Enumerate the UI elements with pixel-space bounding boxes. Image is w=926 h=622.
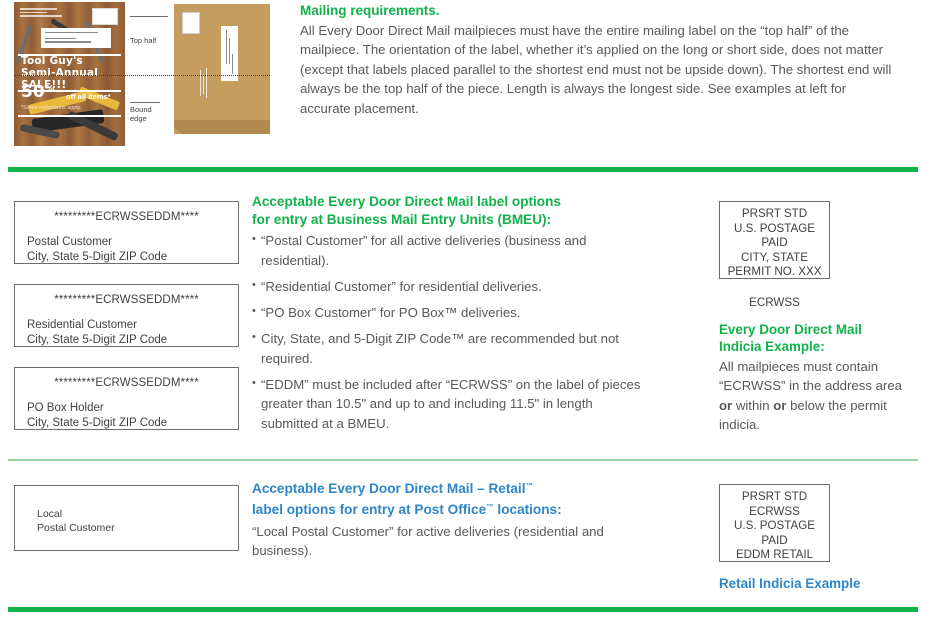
- bmeu-heading: Acceptable Every Door Direct Mail label …: [252, 193, 652, 228]
- flyer-discount: 50%: [21, 84, 55, 101]
- flyer-return-address: [20, 8, 64, 21]
- label-city-line: City, State 5-Digit ZIP Code: [27, 417, 167, 429]
- bound-edge-line1: Bound: [130, 105, 152, 114]
- trademark-icon: ™: [486, 502, 494, 511]
- label-line2: Postal Customer: [37, 522, 115, 534]
- caption-bold-or-2: or: [773, 398, 786, 413]
- caption-body-part2: within: [732, 398, 773, 413]
- eddm-indicia-caption-heading: Every Door Direct Mail Indicia Example:: [719, 321, 915, 356]
- flyer-headline-1: Tool Guy's: [21, 55, 83, 67]
- bmeu-heading-line2: for entry at Business Mail Entry Units (…: [252, 212, 551, 227]
- indicia-line-5: PERMIT NO. XXX: [720, 265, 829, 280]
- mailing-requirements-block: Mailing requirements. All Every Door Dir…: [300, 2, 900, 118]
- top-half-leader-line: [130, 16, 168, 17]
- label-endorsement: *********ECRWSSEDDM****: [15, 294, 238, 306]
- label-address: Local Postal Customer: [37, 508, 115, 535]
- indicia-line-4: CITY, STATE: [720, 251, 829, 266]
- label-sample-po-box-holder: *********ECRWSSEDDM**** PO Box Holder Ci…: [14, 367, 239, 430]
- indicia-line-5: EDDM RETAIL: [720, 548, 829, 563]
- label-endorsement: *********ECRWSSEDDM****: [15, 211, 238, 223]
- label-address: Postal Customer City, State 5-Digit ZIP …: [27, 235, 167, 264]
- bound-edge-leader-line: [130, 102, 160, 103]
- label-address: PO Box Holder City, State 5-Digit ZIP Co…: [27, 401, 167, 430]
- divider-rule-bottom: [8, 607, 918, 612]
- trademark-icon: ™: [526, 481, 534, 490]
- mailing-requirements-heading: Mailing requirements.: [300, 2, 900, 19]
- bmeu-heading-line1: Acceptable Every Door Direct Mail label …: [252, 194, 561, 209]
- mailpiece-artwork: Tool Guy's Semi-Annual SALE!!! 50% off a…: [14, 2, 270, 148]
- label-sample-residential-customer: *********ECRWSSEDDM**** Residential Cust…: [14, 284, 239, 347]
- top-half-label: Top half: [130, 36, 156, 45]
- bound-edge-label: Bound edge: [130, 105, 152, 123]
- indicia-line-2: ECRWSS: [720, 505, 829, 520]
- caption-heading-line1: Every Door Direct Mail: [719, 322, 862, 337]
- caption-bold-or-1: or: [719, 398, 732, 413]
- envelope-return-address: [200, 68, 212, 102]
- list-item: “Residential Customer” for residential d…: [252, 277, 652, 297]
- retail-heading-line1: Acceptable Every Door Direct Mail – Reta…: [252, 481, 526, 496]
- retail-body: “Local Postal Customer” for active deliv…: [252, 522, 652, 561]
- caption-body-part1: All mailpieces must contain “ECRWSS” in …: [719, 359, 902, 393]
- envelope-flap: [174, 120, 270, 134]
- mailing-requirements-body: All Every Door Direct Mail mailpieces mu…: [300, 21, 900, 118]
- caption-heading-line2: Indicia Example:: [719, 339, 825, 354]
- label-endorsement: *********ECRWSSEDDM****: [15, 377, 238, 389]
- label-city-line: City, State 5-Digit ZIP Code: [27, 334, 167, 346]
- bound-edge-line2: edge: [130, 114, 147, 123]
- flyer-address-label: [41, 28, 111, 48]
- divider-rule-middle: [8, 459, 918, 461]
- retail-heading-line2-post: locations:: [494, 502, 562, 517]
- label-name: PO Box Holder: [27, 402, 104, 414]
- eddm-indicia-caption-block: Every Door Direct Mail Indicia Example: …: [719, 321, 915, 434]
- list-item: “PO Box Customer” for PO Box™ deliveries…: [252, 303, 652, 323]
- indicia-line-4: PAID: [720, 534, 829, 549]
- list-item: City, State, and 5-Digit ZIP Code™ are r…: [252, 329, 652, 368]
- envelope-indicia-box: [182, 12, 200, 34]
- retail-indicia-caption: Retail Indicia Example: [719, 575, 926, 592]
- bmeu-copy-block: Acceptable Every Door Direct Mail label …: [252, 193, 652, 440]
- bmeu-bullet-list: “Postal Customer” for all active deliver…: [252, 231, 652, 433]
- retail-heading-line2-pre: label options for entry at Post Office: [252, 502, 486, 517]
- flyer-fine-print: *Some restrictions apply.: [21, 105, 81, 111]
- divider-rule-top: [8, 167, 918, 172]
- list-item: “Postal Customer” for all active deliver…: [252, 231, 652, 270]
- flyer-sample: Tool Guy's Semi-Annual SALE!!! 50% off a…: [14, 2, 125, 146]
- indicia-line-1: PRSRT STD: [720, 490, 829, 505]
- label-name: Postal Customer: [27, 236, 112, 248]
- label-sample-local-postal-customer: Local Postal Customer: [14, 485, 239, 551]
- retail-indicia-example: PRSRT STD ECRWSS U.S. POSTAGE PAID EDDM …: [719, 484, 830, 562]
- eddm-indicia-example: PRSRT STD U.S. POSTAGE PAID CITY, STATE …: [719, 201, 830, 279]
- label-address: Residential Customer City, State 5-Digit…: [27, 318, 167, 347]
- flyer-indicia-box: [92, 8, 118, 25]
- retail-heading: Acceptable Every Door Direct Mail – Reta…: [252, 477, 652, 519]
- label-sample-postal-customer: *********ECRWSSEDDM**** Postal Customer …: [14, 201, 239, 264]
- list-item: “EDDM” must be included after “ECRWSS” o…: [252, 375, 652, 434]
- retail-copy-block: Acceptable Every Door Direct Mail – Reta…: [252, 477, 652, 560]
- indicia-line-3: PAID: [720, 236, 829, 251]
- page-root: Tool Guy's Semi-Annual SALE!!! 50% off a…: [0, 0, 926, 622]
- indicia-line-3: U.S. POSTAGE: [720, 519, 829, 534]
- envelope-address-label: [221, 26, 238, 81]
- label-city-line: City, State 5-Digit ZIP Code: [27, 251, 167, 263]
- flyer-discount-suffix: off all items*: [66, 92, 111, 101]
- label-name: Residential Customer: [27, 319, 137, 331]
- top-half-dotted-divider: [14, 75, 270, 76]
- label-line1: Local: [37, 508, 62, 520]
- indicia-line-2: U.S. POSTAGE: [720, 222, 829, 237]
- indicia-ecrwss-below: ECRWSS: [719, 296, 830, 309]
- eddm-indicia-caption-body: All mailpieces must contain “ECRWSS” in …: [719, 357, 915, 435]
- envelope-sample: [174, 4, 270, 134]
- flyer-rule-bottom: [18, 115, 121, 117]
- indicia-line-1: PRSRT STD: [720, 207, 829, 222]
